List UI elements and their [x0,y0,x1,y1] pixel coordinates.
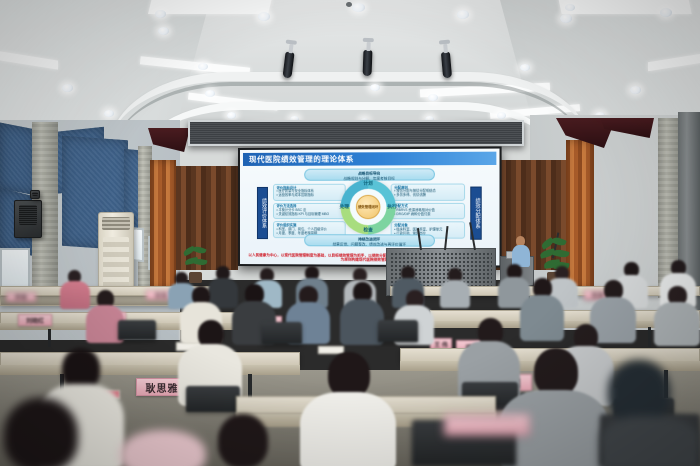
slide-card: 分配方式 • RBRVS 资源消耗相对价值 • DRG/DIP 病种分值付费 [391,203,465,220]
speaker-bracket [30,190,40,199]
ceiling-sensor-icon [346,2,352,7]
slide-card-line: • 运营效率与成本控制指标 [276,194,342,198]
slide-card: 分配原则 • 按劳分配与按绩分配相结合 • 多劳多得、优绩优酬 [391,183,465,200]
person-torso [600,416,700,466]
ceiling-downlight [370,84,380,91]
acoustic-panel [0,123,36,196]
person-head [4,398,78,466]
ceiling-downlight [227,112,236,119]
chair [378,320,418,342]
audience-member [440,268,470,306]
slide-card: 评价指标设计 • 医疗质量与安全指标体系 • 运营效率与成本控制指标 [273,184,346,201]
pdca-plan-label: 计划 [363,181,372,187]
plant-leaf [192,245,206,255]
nameplate: 李 敏 [6,292,36,302]
nameplate [444,414,530,436]
ceiling-downlight [565,4,575,11]
chair [118,320,156,340]
audience-member-foreground [0,398,110,466]
ceiling-downlight [198,63,208,70]
curtain [150,160,176,290]
ceiling-downlight [520,64,530,71]
ceiling-light-strip [148,0,272,14]
table-leg [648,327,651,347]
ceiling-downlight [62,84,73,92]
slide-left-vertical-label: 绩效评价体系 [257,187,268,239]
audience-member-foreground [600,360,700,466]
person-head [534,348,578,396]
ceiling-downlight [630,86,641,94]
lecture-hall-photo: 现代医院绩效管理的理论体系 战略目标导向 战略规划与分解、年度考核目标 绩效评价… [0,0,700,466]
ceiling-downlight [104,110,114,117]
person-torso [440,280,470,308]
ceiling-downlight [560,14,572,23]
slide-card-line: • 关键绩效指标 KPI 与目标管理 MBO [276,213,342,217]
slide-bottom-box: 持续改进闭环 结果反馈、问题整改、绩效改进与再评价循环 [304,234,435,247]
ceiling-downlight [352,3,365,12]
pdca-cycle-diagram: 计划 执行 检查 处理 绩效管理闭环 [341,180,396,235]
wall-speaker [14,200,42,238]
audience-member-foreground [500,348,608,466]
slide-bottom-box-text: 结果反馈、问题整改、绩效改进与再评价循环 [308,242,431,247]
audience-member-foreground [100,430,230,466]
stage-spotlight [441,52,452,79]
pdca-act-label: 处理 [340,204,349,210]
pdca-check-label: 检查 [363,227,372,233]
ceiling-downlight [205,90,215,97]
audience-member [654,286,700,344]
ceiling-downlight [158,27,169,35]
ceiling-downlight [497,112,506,119]
presenter [510,236,532,266]
stage-spotlight [363,50,373,76]
ceiling-downlight [660,8,672,17]
ceiling-downlight [457,10,469,19]
audience-member-foreground [300,352,396,466]
table-leg [48,329,51,347]
person-head [608,360,670,424]
pdca-hub-label: 绩效管理闭环 [356,195,381,219]
ac-vent [103,237,129,287]
slide-title: 现代医院绩效管理的理论体系 [243,152,496,166]
plant-leaf [551,236,567,248]
pdca-do-label: 执行 [387,204,396,210]
person-head [120,430,206,466]
ceiling-downlight [428,94,438,101]
person-torso [300,392,396,466]
nameplate: 刘晓红 [18,314,52,326]
air-conditioner [98,212,134,294]
ac-grille [102,217,131,230]
slide-card-line: • DRG/DIP 病种分值付费 [394,213,461,217]
ceiling-downlight [155,10,166,18]
ceiling-downlight [258,12,270,21]
plant-leaf [552,248,569,259]
slide-card-line: • 多劳多得、优绩优酬 [394,194,461,198]
chair [186,386,240,412]
chair [262,322,302,344]
slide-card: 评价方法选择 • 平衡计分卡 BSC 法 • 关键绩效指标 KPI 与目标管理 … [273,203,346,220]
led-display-banner [188,120,524,146]
person-torso [654,302,700,346]
plant-leaf [194,258,208,267]
